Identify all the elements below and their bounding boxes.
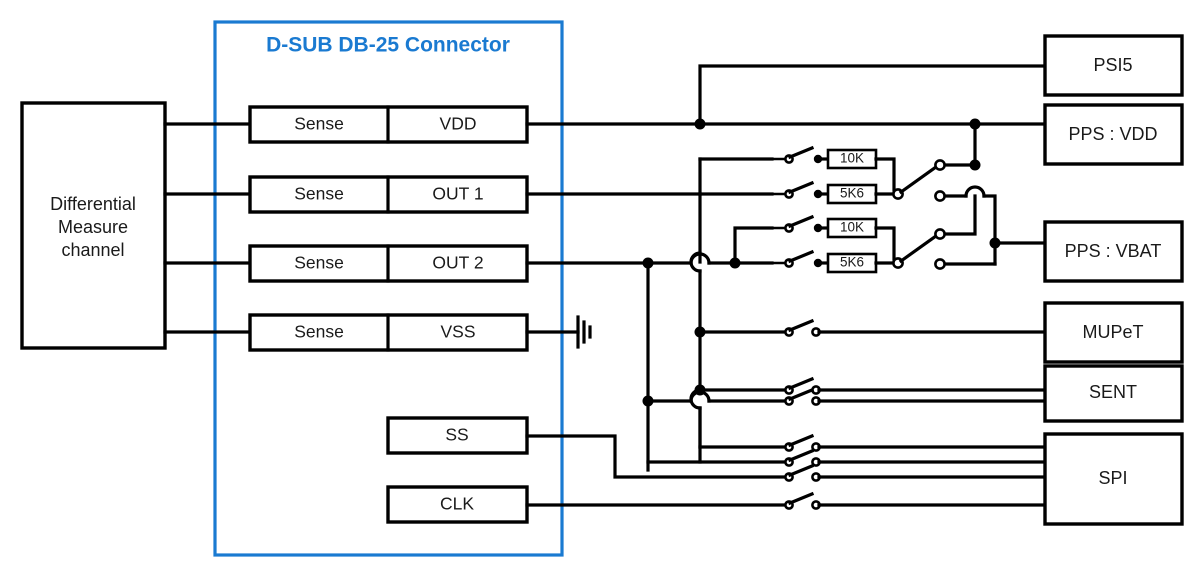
switch-mupet[interactable] bbox=[785, 321, 819, 336]
differential-measure-line3: channel bbox=[61, 240, 124, 260]
relay-upper-b-down bbox=[984, 196, 995, 243]
switch-spi-1[interactable] bbox=[785, 436, 819, 451]
protocol-label-spi: SPI bbox=[1098, 468, 1127, 488]
differential-measure-line2: Measure bbox=[58, 217, 128, 237]
branch-out2-r10k-lower bbox=[735, 228, 772, 263]
protocol-label-psi5: PSI5 bbox=[1093, 55, 1132, 75]
protocol-label-pps-vbat: PPS : VBAT bbox=[1065, 241, 1162, 261]
signal-label-vdd: VDD bbox=[440, 114, 477, 134]
switch-r5k6-vdd[interactable] bbox=[772, 183, 822, 198]
hop-sent-b-over-out1bus bbox=[691, 392, 709, 401]
relay-lower-throw-b[interactable] bbox=[935, 259, 944, 268]
switch-spi-4[interactable] bbox=[785, 494, 819, 509]
circuit-diagram: D-SUB DB-25 Connector Differential Measu… bbox=[0, 0, 1200, 565]
pin-label-ss: SS bbox=[445, 425, 468, 445]
resistor-5k6-lower-label: 5K6 bbox=[840, 255, 864, 270]
protocol-label-pps-vdd: PPS : VDD bbox=[1068, 124, 1157, 144]
junction-vdd-psi5 bbox=[695, 119, 706, 130]
diagram-canvas: D-SUB DB-25 Connector Differential Measu… bbox=[0, 0, 1200, 565]
signal-label-out1: OUT 1 bbox=[432, 184, 483, 204]
signal-label-vss: VSS bbox=[440, 322, 475, 342]
protocol-label-mupet: MUPeT bbox=[1082, 322, 1143, 342]
junction-vdd-down bbox=[970, 119, 981, 130]
junction-relay-upper-a bbox=[970, 160, 981, 171]
signal-label-out2: OUT 2 bbox=[432, 253, 483, 273]
branch-spi-3-from-ss bbox=[527, 436, 786, 477]
sense-label-vss: Sense bbox=[294, 322, 344, 342]
dsub-connector-boundary bbox=[215, 22, 562, 555]
protocol-label-sent: SENT bbox=[1089, 382, 1137, 402]
switch-r10k-vbat[interactable] bbox=[772, 217, 822, 232]
lead-r10k-lower-to-relay bbox=[876, 228, 894, 259]
relay-lower-blade[interactable] bbox=[901, 236, 936, 261]
sense-label-vdd: Sense bbox=[294, 114, 344, 134]
junction-sent-b bbox=[643, 396, 654, 407]
sense-label-out2: Sense bbox=[294, 253, 344, 273]
branch-vdd-to-psi5 bbox=[700, 66, 1045, 124]
relay-upper-throw-b[interactable] bbox=[935, 191, 944, 200]
switch-spi-3[interactable] bbox=[785, 466, 819, 481]
differential-measure-line1: Differential bbox=[50, 194, 136, 214]
relay-lower-throw-a[interactable] bbox=[935, 229, 944, 238]
relay-upper-blade[interactable] bbox=[901, 167, 936, 192]
switch-spi-2[interactable] bbox=[785, 451, 819, 466]
junction-mupet bbox=[695, 327, 706, 338]
pin-label-clk: CLK bbox=[440, 494, 474, 514]
switch-r10k-vdd[interactable] bbox=[772, 148, 822, 163]
lead-r10k-upper-to-relay bbox=[876, 159, 894, 190]
resistor-5k6-upper-label: 5K6 bbox=[840, 186, 864, 201]
dsub-connector-title: D-SUB DB-25 Connector bbox=[266, 34, 510, 57]
switch-r5k6-vbat[interactable] bbox=[772, 252, 822, 267]
switch-sent-a[interactable] bbox=[785, 379, 819, 394]
junction-out2-r10k bbox=[730, 258, 741, 269]
relay-lower-a-up bbox=[945, 196, 975, 234]
resistor-10k-lower-label: 10K bbox=[840, 220, 864, 235]
resistor-10k-upper-label: 10K bbox=[840, 151, 864, 166]
sense-label-out1: Sense bbox=[294, 184, 344, 204]
relay-upper-throw-a[interactable] bbox=[935, 160, 944, 169]
ground-icon bbox=[578, 317, 590, 347]
